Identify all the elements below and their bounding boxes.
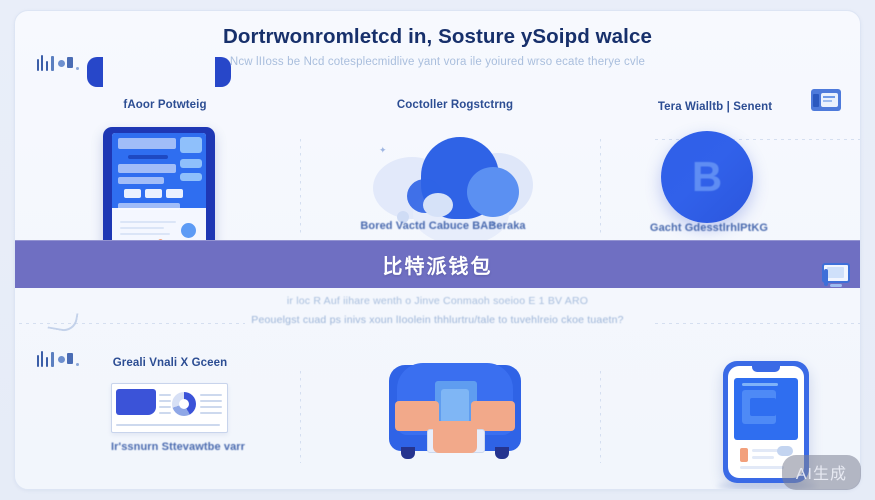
- chart-card-illustration: [111, 383, 228, 433]
- column-divider: [300, 371, 301, 463]
- tablet-side-blob-right: [215, 57, 231, 87]
- header: Dortrwonromletcd in, Sosture ySoipd walc…: [15, 25, 860, 68]
- column-divider: [600, 139, 601, 235]
- sub-paragraph: ir loc R Auf iihare wenth o Jinve Conmao…: [15, 295, 860, 326]
- row-divider: [655, 323, 860, 324]
- swoosh-icon: [47, 309, 78, 334]
- column-divider: [600, 371, 601, 463]
- sub-paragraph-line-1: ir loc R Auf iihare wenth o Jinve Conmao…: [15, 295, 860, 307]
- column-divider: [300, 139, 301, 235]
- title-banner: 比特派钱包: [15, 240, 860, 288]
- screenshot-root: Dortrwonromletcd in, Sosture ySoipd walc…: [0, 0, 875, 500]
- bottom-column-label-1: Greali Vnali X Gceen: [113, 357, 228, 369]
- top-column-caption-2: Bored Vactd Cabuce BABeraka: [360, 220, 525, 232]
- tablet-side-blob-left: [87, 57, 103, 87]
- monitor-icon: [820, 263, 850, 289]
- content-card: Dortrwonromletcd in, Sosture ySoipd walc…: [14, 10, 861, 490]
- top-column-label-3: Tera Wialltb | Senent: [658, 101, 772, 113]
- decorative-glyph-cluster-icon: [35, 53, 81, 77]
- coin-symbol: B: [661, 131, 753, 223]
- bottom-column-caption-1: Ir'ssnurn Sttevawtbe varr: [111, 441, 245, 453]
- top-column-label-1: fAoor Potwteig: [123, 99, 206, 111]
- ai-watermark-badge: AI生成: [782, 455, 861, 490]
- page-title: Dortrwonromletcd in, Sosture ySoipd walc…: [15, 25, 860, 50]
- sub-paragraph-line-2: Peouelgst cuad ps inivs xoun lIoolein th…: [15, 314, 860, 326]
- hands-device-illustration: [389, 363, 521, 461]
- top-column-label-2: Coctoller Rogstctrng: [397, 99, 513, 111]
- coin-illustration: B: [661, 131, 753, 223]
- top-column-caption-3: Gacht GdesstlrhlPtKG: [650, 222, 768, 234]
- document-card-icon: [811, 89, 841, 113]
- banner-title: 比特派钱包: [383, 250, 493, 279]
- page-subtitle: Ncw lIIoss be Ncd cotesplecmidlive yant …: [15, 56, 860, 68]
- decorative-glyph-cluster-icon: [35, 349, 81, 373]
